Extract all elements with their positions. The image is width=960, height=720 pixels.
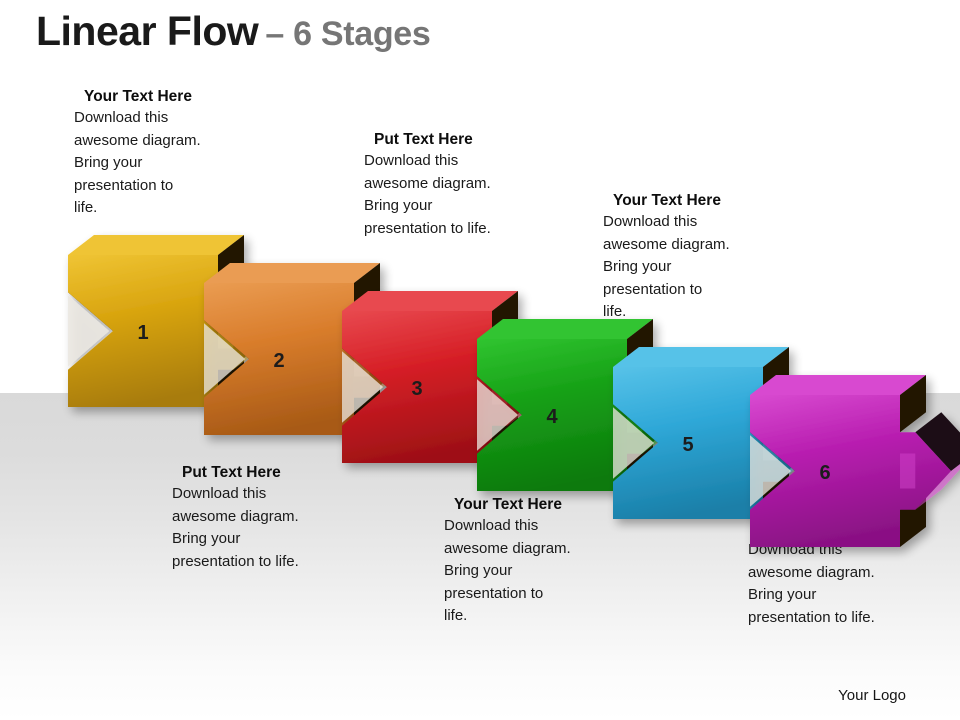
callout-6: Put Text Here Download thisawesome diagr… bbox=[748, 520, 875, 629]
callout-4-body: Download thisawesome diagram.Bring yourp… bbox=[444, 515, 571, 628]
callout-5-heading: Your Text Here bbox=[613, 192, 730, 210]
title-subtitle: – 6 Stages bbox=[265, 15, 430, 53]
callout-line: Download this bbox=[444, 515, 571, 538]
piece-side-upper-4 bbox=[627, 319, 653, 376]
callout-line: awesome diagram. bbox=[364, 173, 491, 196]
piece-arrow-extrusion-bottom-1 bbox=[233, 311, 295, 370]
callout-line: presentation to bbox=[603, 279, 730, 302]
piece-arrow-shaft-2 bbox=[354, 342, 369, 377]
piece-side-upper-1 bbox=[218, 235, 244, 292]
slide-canvas: Linear Flow– 6 Stages Your Text Here Dow… bbox=[0, 0, 960, 720]
callout-line: Download this bbox=[172, 483, 299, 506]
callout-line: Bring your bbox=[748, 584, 875, 607]
callout-5-body: Download thisawesome diagram.Bring yourp… bbox=[603, 211, 730, 324]
callout-line: awesome diagram. bbox=[172, 506, 299, 529]
callout-6-body: Download thisawesome diagram.Bring yourp… bbox=[748, 539, 875, 629]
piece-front-face-1[interactable] bbox=[68, 255, 269, 407]
title-main: Linear Flow bbox=[36, 8, 258, 54]
callout-2-body: Download thisawesome diagram.Bring yourp… bbox=[172, 483, 299, 573]
callout-line: awesome diagram. bbox=[603, 234, 730, 257]
callout-line: awesome diagram. bbox=[74, 130, 201, 153]
callout-line: Download this bbox=[364, 150, 491, 173]
callout-1-body: Download thisawesome diagram.Bring yourp… bbox=[74, 107, 201, 220]
callout-3-heading: Put Text Here bbox=[374, 131, 491, 149]
callout-2-heading: Put Text Here bbox=[182, 464, 299, 482]
piece-side-upper-2 bbox=[354, 263, 380, 320]
puzzle-piece-1[interactable]: 1 bbox=[68, 235, 295, 407]
callout-6-heading: Put Text Here bbox=[758, 520, 875, 538]
callout-line: Download this bbox=[603, 211, 730, 234]
callout-1: Your Text Here Download thisawesome diag… bbox=[74, 88, 201, 220]
callout-3: Put Text Here Download thisawesome diagr… bbox=[364, 131, 491, 240]
callout-1-heading: Your Text Here bbox=[84, 88, 201, 106]
callout-line: Bring your bbox=[74, 152, 201, 175]
piece-notch-highlight-1 bbox=[68, 295, 109, 367]
callout-2: Put Text Here Download thisawesome diagr… bbox=[172, 464, 299, 573]
callout-line: presentation to life. bbox=[748, 607, 875, 630]
callout-line: Download this bbox=[748, 539, 875, 562]
callout-line: awesome diagram. bbox=[444, 538, 571, 561]
piece-number-2: 2 bbox=[273, 350, 284, 372]
callout-line: life. bbox=[444, 605, 571, 628]
callout-line: life. bbox=[74, 197, 201, 220]
callout-line: awesome diagram. bbox=[748, 562, 875, 585]
piece-notch-highlight-2 bbox=[204, 323, 245, 395]
callout-line: Bring your bbox=[444, 560, 571, 583]
callout-line: presentation to bbox=[444, 583, 571, 606]
piece-top-face-6 bbox=[750, 375, 926, 395]
callout-line: Download this bbox=[74, 107, 201, 130]
piece-arrow-extrusion-top-3 bbox=[507, 328, 569, 387]
callout-line: presentation to life. bbox=[364, 218, 491, 241]
piece-extrusion-1 bbox=[68, 235, 295, 407]
callout-line: presentation to life. bbox=[172, 551, 299, 574]
callout-line: presentation to bbox=[74, 175, 201, 198]
piece-notch-wall-top-3 bbox=[342, 328, 413, 387]
piece-number-1: 1 bbox=[137, 322, 148, 344]
piece-arrow-extrusion-top-1 bbox=[233, 272, 295, 331]
piece-arrow-shaft-1 bbox=[218, 314, 233, 349]
piece-top-face-5 bbox=[613, 347, 789, 367]
piece-top-face-2 bbox=[204, 263, 380, 283]
piece-top-face-3 bbox=[342, 291, 518, 311]
callout-4: Your Text Here Download thisawesome diag… bbox=[444, 496, 571, 628]
callout-line: Bring your bbox=[364, 195, 491, 218]
piece-top-face-1 bbox=[68, 235, 244, 255]
callout-line: life. bbox=[603, 301, 730, 324]
piece-arrow-extrusion-top-2 bbox=[369, 300, 431, 359]
callout-4-heading: Your Text Here bbox=[454, 496, 571, 514]
piece-notch-wall-top-2 bbox=[204, 300, 275, 359]
piece-notch-wall-top-1 bbox=[68, 272, 139, 331]
piece-arrow-extrusion-bottom-2 bbox=[369, 339, 431, 398]
callout-line: Bring your bbox=[603, 256, 730, 279]
callout-5: Your Text Here Download thisawesome diag… bbox=[603, 192, 730, 324]
page-title: Linear Flow– 6 Stages bbox=[36, 8, 431, 55]
footer-logo-text: Your Logo bbox=[838, 687, 906, 704]
callout-3-body: Download thisawesome diagram.Bring yourp… bbox=[364, 150, 491, 240]
callout-line: Bring your bbox=[172, 528, 299, 551]
piece-side-upper-3 bbox=[492, 291, 518, 348]
